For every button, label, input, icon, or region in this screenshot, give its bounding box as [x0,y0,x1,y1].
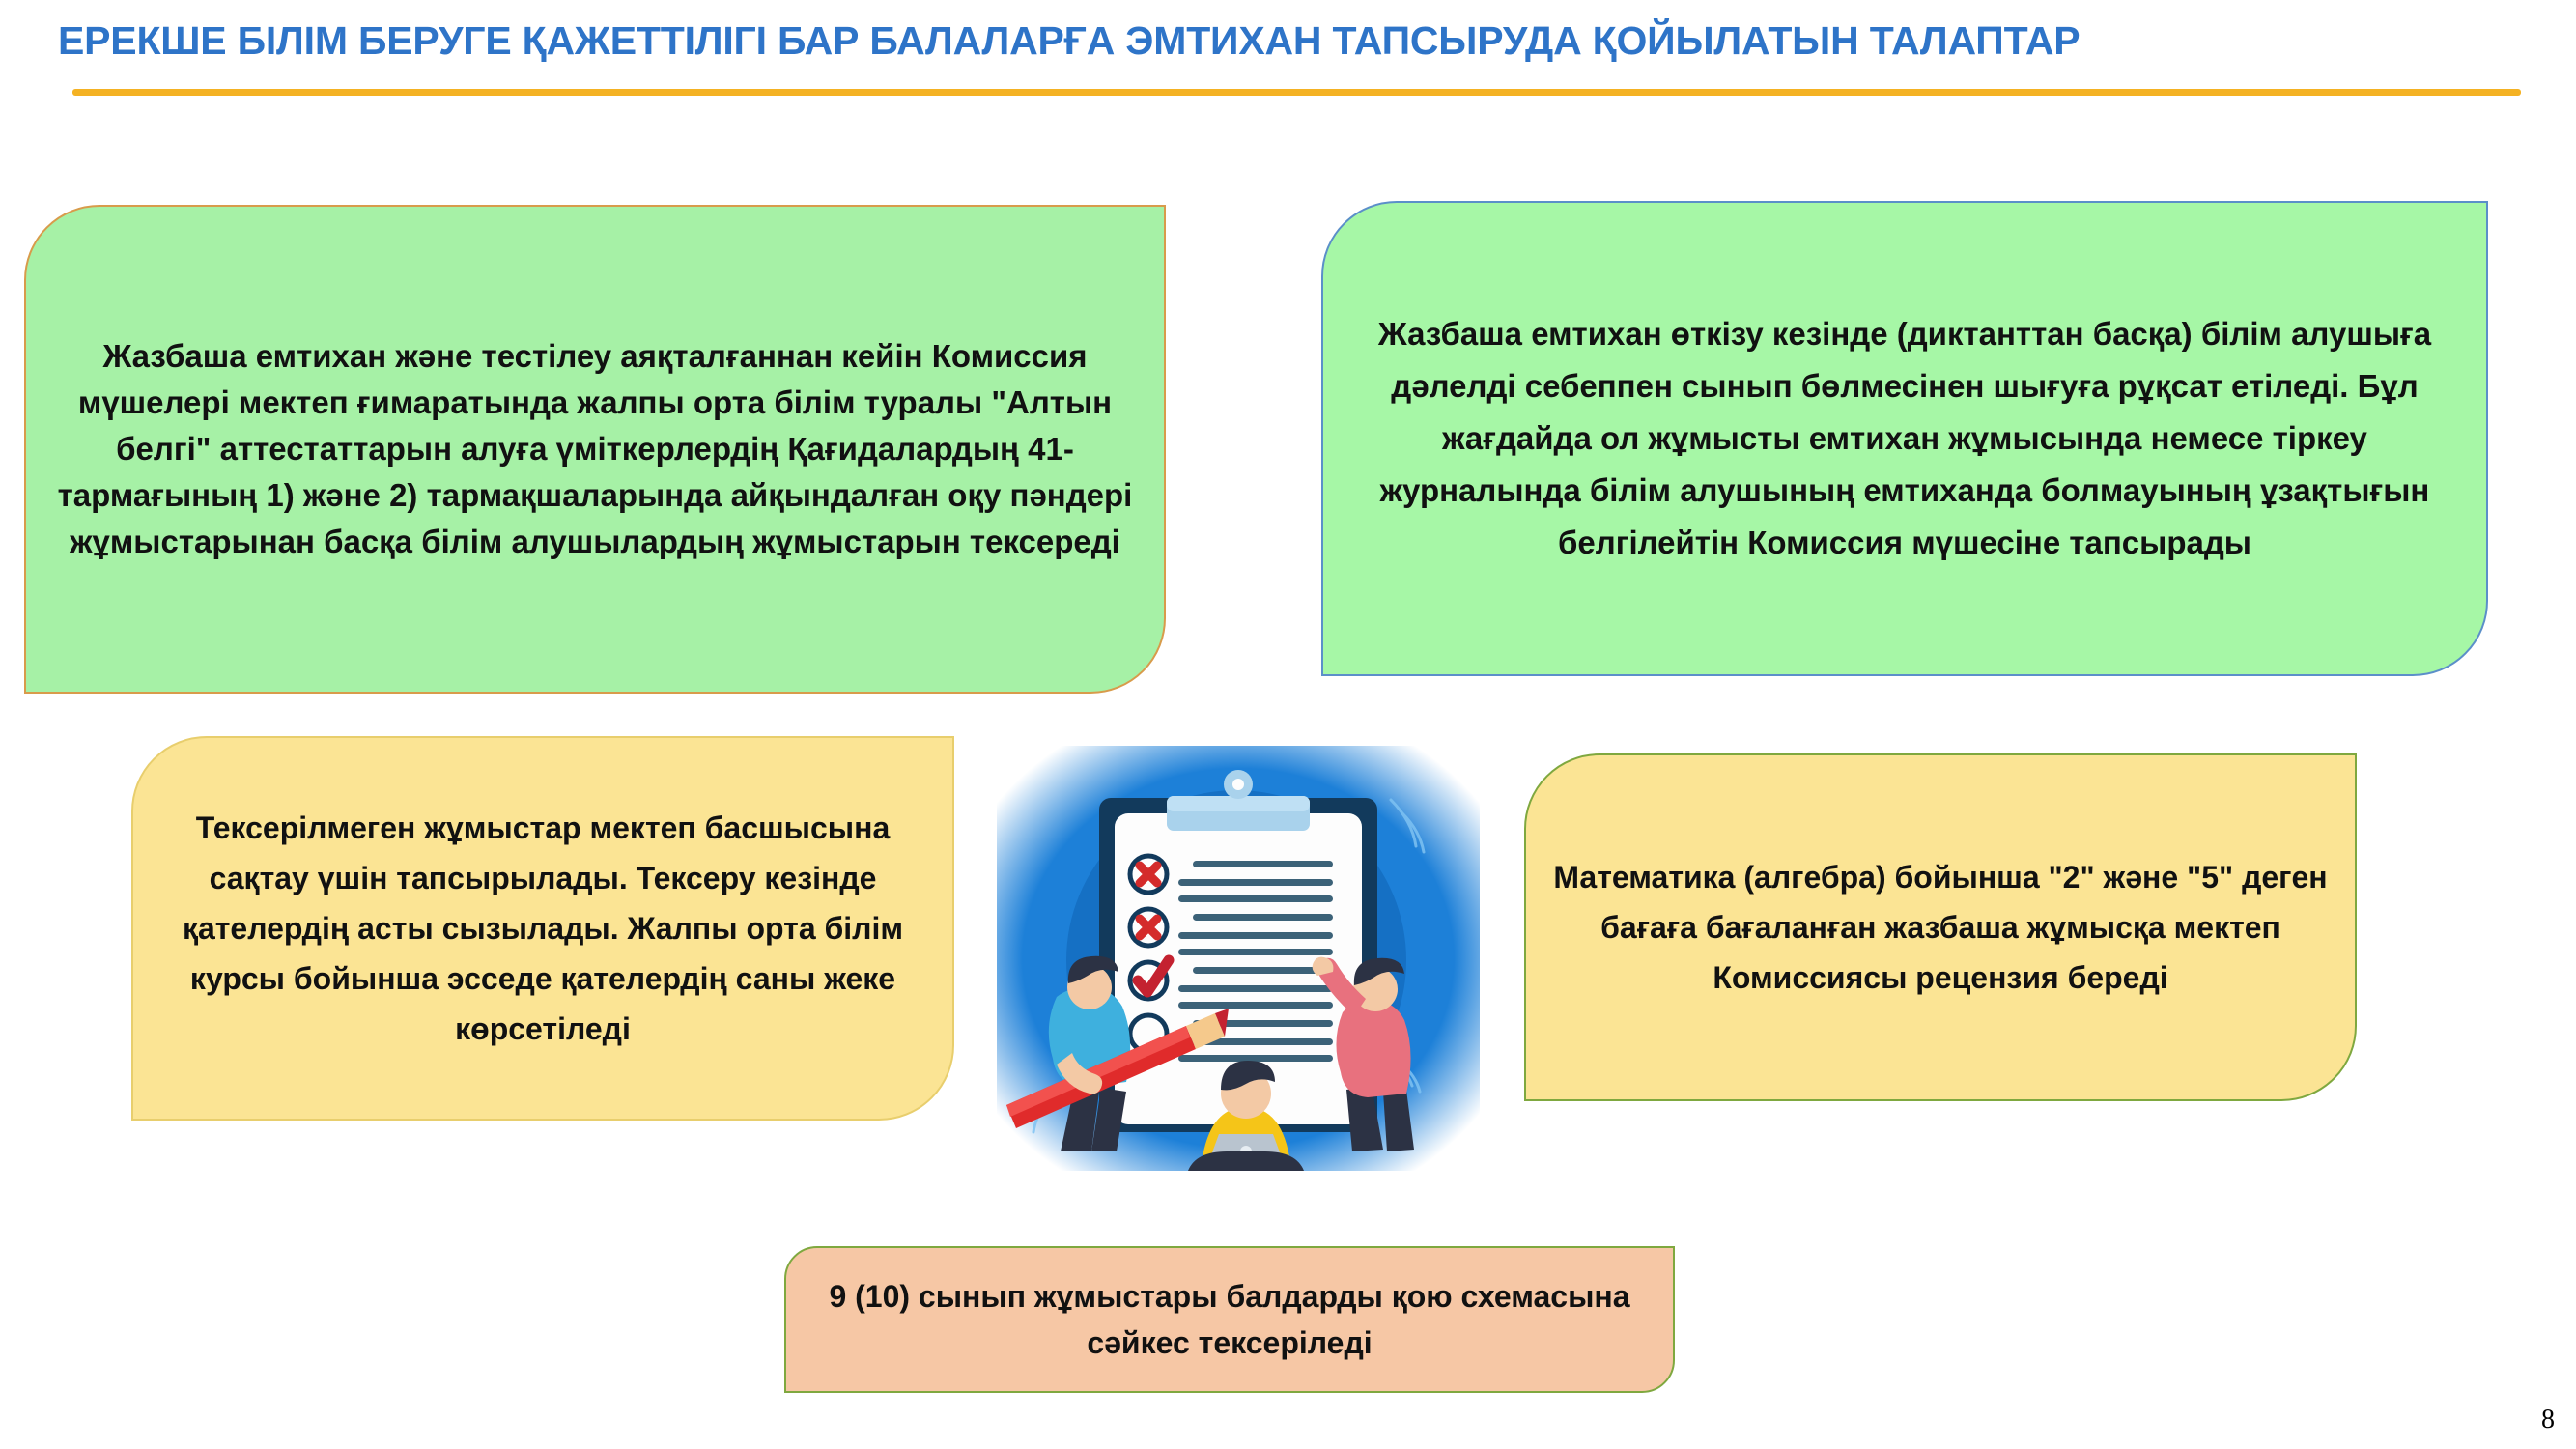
title-underline-rule [72,89,2521,96]
callout-yellow-right-text: Математика (алгебра) бойынша "2" және "5… [1551,852,2330,1003]
page-number: 8 [2541,1405,2555,1435]
callout-yellow-left: Тексерілмеген жұмыстар мектеп басшысына … [131,736,954,1121]
row-3-text-lines [1178,967,1333,1009]
slide-canvas: ЕРЕКШЕ БІЛІМ БЕРУГЕ ҚАЖЕТТІЛІГІ БАР БАЛА… [0,0,2576,1449]
callout-green-left: Жазбаша емтихан және тестілеу аяқталғанн… [24,205,1166,694]
illustration-svg [997,746,1480,1171]
page-title: ЕРЕКШЕ БІЛІМ БЕРУГЕ ҚАЖЕТТІЛІГІ БАР БАЛА… [58,15,2531,66]
callout-green-right: Жазбаша емтихан өткізу кезінде (диктантт… [1321,201,2488,676]
clip-ring-inner [1232,779,1244,790]
cross-icon-mark [1140,866,1157,883]
callout-yellow-right: Математика (алгебра) бойынша "2" және "5… [1524,753,2357,1101]
row-1-text-lines [1178,861,1333,902]
pointing-person-torso [1336,1001,1410,1097]
callout-orange-bottom-text: 9 (10) сынып жұмыстары балдарды қою схем… [811,1273,1648,1366]
callout-green-left-text: Жазбаша емтихан және тестілеу аяқталғанн… [51,333,1139,565]
row-2-text-lines [1178,914,1333,955]
callout-yellow-left-text: Тексерілмеген жұмыстар мектеп басшысына … [158,803,927,1054]
cross-icon-mark [1140,919,1157,936]
title-block: ЕРЕКШЕ БІЛІМ БЕРУГЕ ҚАЖЕТТІЛІГІ БАР БАЛА… [58,15,2531,83]
callout-green-right-text: Жазбаша емтихан өткізу кезінде (диктантт… [1348,308,2461,569]
callout-orange-bottom: 9 (10) сынып жұмыстары балдарды қою схем… [784,1246,1675,1393]
checklist-clipboard-illustration [997,746,1480,1171]
